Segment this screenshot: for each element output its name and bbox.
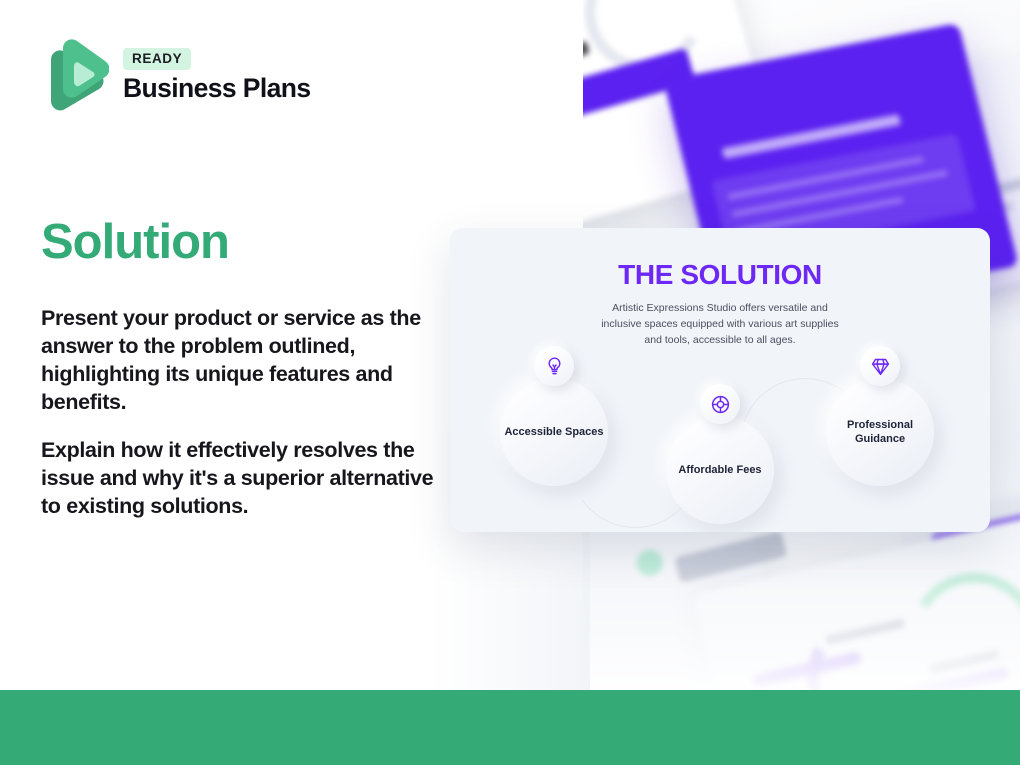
body-paragraph-2: Explain how it effectively resolves the … [41,437,441,521]
body-paragraph-1: Present your product or service as the a… [41,305,441,417]
node-label: Affordable Fees [678,463,761,477]
decorative-bar [674,531,787,583]
diamond-icon [860,346,900,386]
play-triangle-logo-icon [41,38,109,114]
node-diagram: Accessible Spaces Affordable Fees [450,228,990,532]
brand-name: Business Plans [123,74,311,104]
lifebuoy-icon [700,384,740,424]
page-title: Solution [41,214,229,270]
body-copy: Present your product or service as the a… [41,305,441,521]
footer-bar [0,690,1020,765]
decorative-dot [634,547,666,579]
solution-card: THE SOLUTION Artistic Expressions Studio… [450,228,990,532]
brand-logo: READY Business Plans [41,38,311,114]
node-label: Professional Guidance [826,418,934,446]
ready-badge: READY [123,48,191,70]
node-circle: Affordable Fees [666,416,774,524]
node-affordable-fees[interactable]: Affordable Fees [666,416,774,524]
node-professional-guidance[interactable]: Professional Guidance [826,378,934,486]
lightbulb-icon [534,346,574,386]
node-label: Accessible Spaces [504,425,603,439]
node-circle: Accessible Spaces [500,378,608,486]
node-circle: Professional Guidance [826,378,934,486]
node-accessible-spaces[interactable]: Accessible Spaces [500,378,608,486]
decorative-arc [796,610,928,690]
